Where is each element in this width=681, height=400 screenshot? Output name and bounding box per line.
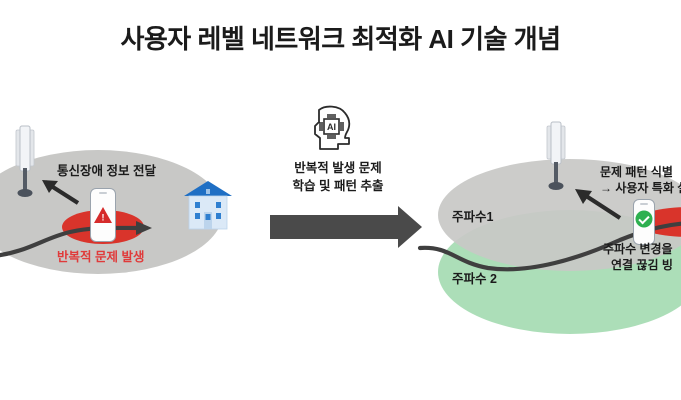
label-result-line1: 문제 패턴 식별	[600, 163, 673, 180]
label-repeated-problem: 반복적 문제 발생	[57, 246, 144, 265]
right-smartphone-icon	[633, 199, 655, 245]
phone-notch	[99, 192, 107, 194]
label-ai-learning-line2: 학습 및 패턴 추출	[283, 175, 393, 194]
label-ai-learning-line1: 반복적 발생 문제	[283, 157, 393, 176]
ai-head-chip-icon: AI	[305, 104, 357, 150]
warning-exclamation: !	[102, 214, 105, 223]
label-result-line2: → 사용자 특화 설	[600, 179, 681, 196]
label-result-line3: 주파수 변경을	[603, 240, 673, 257]
label-frequency-1: 주파수1	[452, 206, 493, 225]
phone-notch	[640, 203, 648, 205]
diagram-canvas: 사용자 레벨 네트워크 최적화 AI 기술 개념	[0, 0, 681, 400]
ai-chip-label: AI	[327, 122, 336, 132]
process-arrow-icon	[270, 206, 422, 248]
label-frequency-2: 주파수 2	[452, 268, 497, 287]
label-fault-info-delivery: 통신장애 정보 전달	[57, 160, 156, 179]
label-result-line4: 연결 끊김 빙	[611, 256, 673, 273]
left-smartphone-icon: !	[90, 188, 116, 242]
